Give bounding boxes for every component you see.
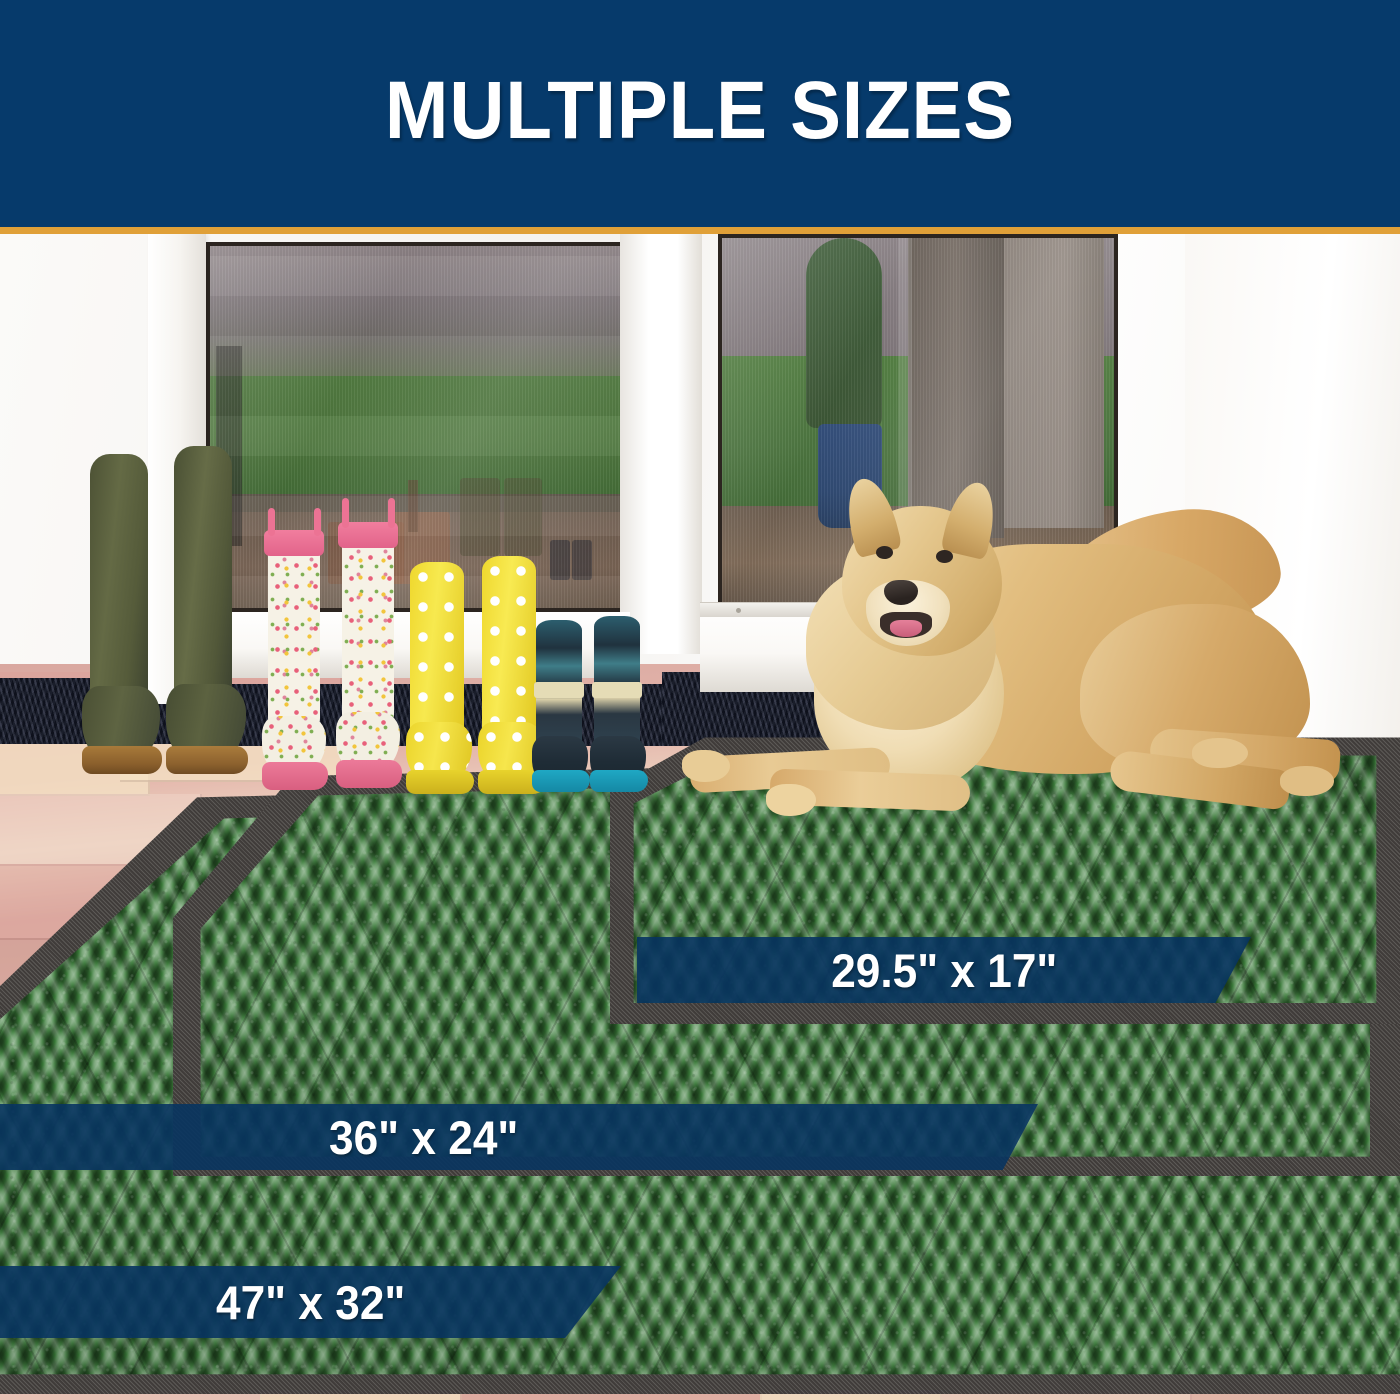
dog: [680, 484, 1340, 854]
dog-paw: [682, 750, 730, 782]
size-badge-label: 47" x 32": [216, 1275, 405, 1330]
dog-paw: [1280, 766, 1334, 796]
header-accent-rule: [0, 227, 1400, 234]
boot-stripe: [534, 682, 584, 698]
boot-sole: [406, 770, 474, 794]
size-badge-label: 29.5" x 17": [831, 943, 1057, 998]
product-photo: [0, 234, 1400, 1400]
boot-sole: [532, 770, 590, 792]
size-badge-36x24[interactable]: 36" x 24": [0, 1104, 1038, 1170]
teal-kids-wellington-pair: [534, 616, 664, 836]
boot-sole: [262, 762, 328, 790]
dog-paw: [766, 784, 816, 816]
polka-dot-print: [410, 562, 464, 738]
boot-pull-tab: [314, 508, 321, 536]
dog-eye-left: [876, 546, 893, 559]
size-badge-29x17[interactable]: 29.5" x 17": [637, 937, 1251, 1003]
floral-print: [268, 534, 320, 730]
header-banner: MULTIPLE SIZES: [0, 0, 1400, 227]
dog-tongue: [890, 620, 922, 637]
size-badge-label: 36" x 24": [329, 1110, 518, 1165]
boot-pull-tab: [268, 508, 275, 536]
floral-wellington-pair: [262, 526, 422, 826]
dog-eye-right: [936, 550, 953, 563]
size-badge-47x32[interactable]: 47" x 32": [0, 1266, 621, 1338]
product-image-canvas: MULTIPLE SIZES: [0, 0, 1400, 1400]
page-title: MULTIPLE SIZES: [49, 70, 1351, 152]
olive-wellington-pair: [78, 454, 258, 804]
dog-paw: [1192, 738, 1248, 768]
dog-ear-left: [839, 474, 902, 559]
